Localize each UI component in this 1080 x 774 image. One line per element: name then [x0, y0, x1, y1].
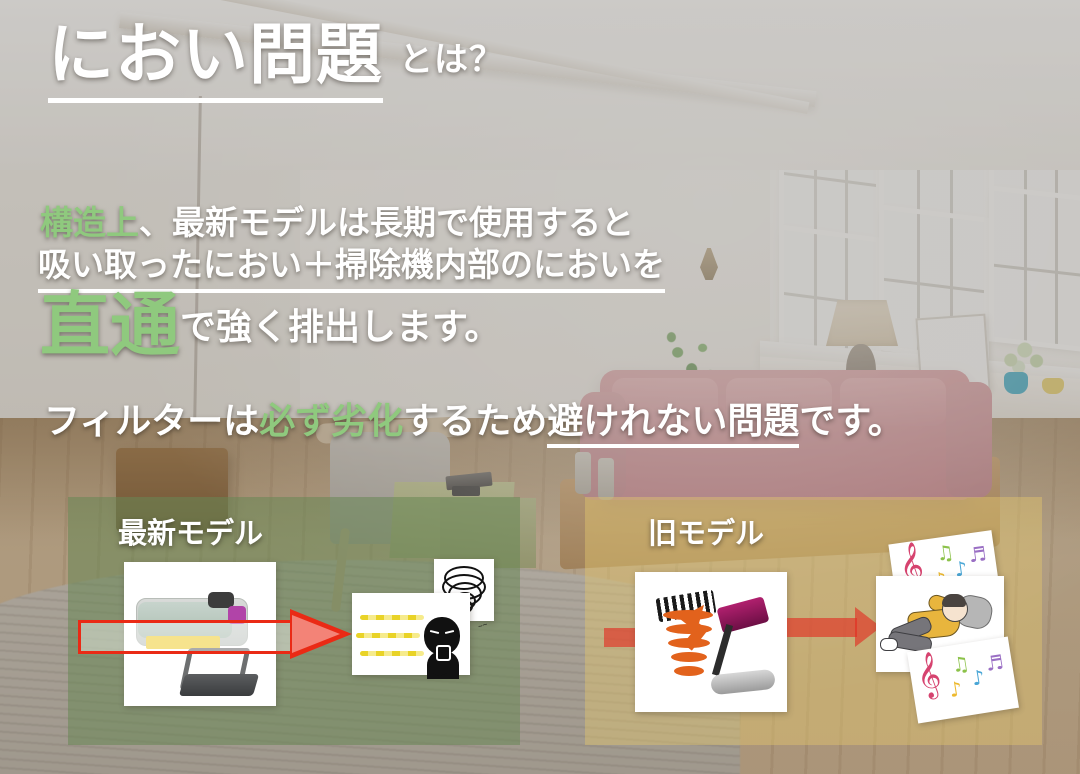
page-title: におい問題とは？ — [48, 22, 504, 88]
old-vacuum-diagram — [635, 572, 787, 712]
bottle — [598, 458, 614, 500]
slide-canvas: におい問題とは？ 構造上、最新モデルは長期で使用すると 吸い取ったにおい＋掃除機… — [0, 0, 1080, 774]
music-note-icon: ♬ — [984, 652, 1005, 675]
music-note-icon: ♪ — [948, 678, 964, 700]
window-pane-lower — [994, 191, 1080, 347]
body-line-1: 構造上、最新モデルは長期で使用すると — [40, 196, 634, 244]
body-line-4-green: 必ず劣化 — [259, 401, 403, 442]
music-note-icon: ♪ — [970, 667, 986, 689]
yellow-vase — [1042, 378, 1064, 394]
body-line-2-text: 吸い取ったにおい＋掃除機内部のにおいを — [38, 245, 665, 284]
music-note-icon: ♬ — [967, 543, 988, 565]
body-line-4-c: です。 — [799, 401, 903, 442]
dark-object — [452, 486, 480, 496]
exhaust-arrow-solid — [787, 607, 883, 647]
music-note-icon: ♫ — [950, 653, 971, 676]
table-lamp-shade — [826, 300, 898, 346]
title-sub: とは？ — [399, 40, 504, 80]
body-line-3-a: で — [180, 307, 216, 348]
exhaust-arrow-outline — [78, 611, 358, 657]
sofa-arm — [946, 382, 992, 498]
body-line-3-emphasis: 直通 — [40, 284, 180, 366]
panel-label-new-model: 最新モデル — [118, 510, 263, 552]
blue-vase — [1004, 372, 1028, 394]
body-line-4-b: するため — [403, 401, 547, 442]
body-line-3-green: 強く — [216, 307, 288, 348]
body-line-4-a: フィルターは — [44, 401, 259, 442]
body-line-3: 直通で強く排出します。 — [40, 290, 500, 360]
bottle — [575, 452, 591, 494]
body-line-4: フィルターは必ず劣化するため避けれない問題です。 — [44, 392, 904, 444]
bad-smell-card: ~~ — [352, 593, 470, 675]
body-line-1-white: 、最新モデルは長期で使用すると — [139, 203, 634, 242]
panel-label-old-model: 旧モデル — [648, 510, 764, 552]
body-line-1-green: 構造上 — [40, 203, 139, 242]
music-note-icon: ♫ — [935, 542, 956, 564]
body-line-4-underline: 避けれない問題 — [547, 401, 799, 448]
body-line-3-b: 排出します。 — [288, 307, 500, 348]
title-main: におい問題 — [48, 16, 383, 103]
